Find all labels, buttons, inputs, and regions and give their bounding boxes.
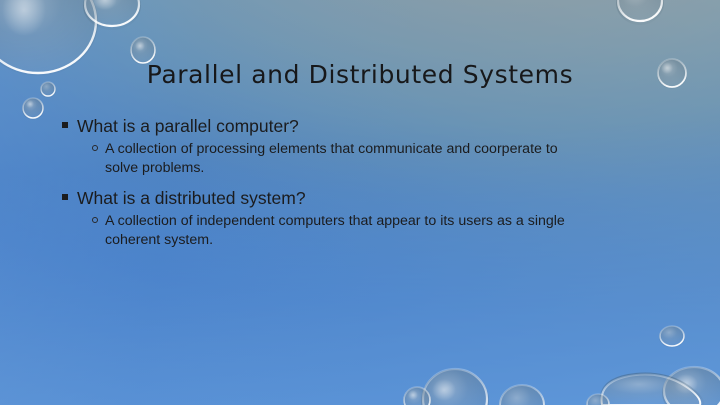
- bullet-level2-line1: A collection of independent computers th…: [105, 212, 660, 231]
- bullet-level2-item: A collection of processing elements that…: [60, 140, 660, 177]
- page-title: Parallel and Distributed Systems: [0, 60, 720, 89]
- circle-bullet-icon: [92, 217, 98, 223]
- bullet-level2-line1: A collection of processing elements that…: [105, 140, 660, 159]
- presentation-slide: Parallel and Distributed Systems What is…: [0, 0, 720, 405]
- square-bullet-icon: [62, 194, 68, 200]
- slide-body: What is a parallel computer? A collectio…: [60, 114, 660, 258]
- bullet-level1-item: What is a parallel computer?: [60, 114, 660, 138]
- bullet-level1-item: What is a distributed system?: [60, 186, 660, 210]
- bullet-level1-text: What is a distributed system?: [77, 188, 306, 208]
- square-bullet-icon: [62, 122, 68, 128]
- bullet-level2-line2: solve problems.: [105, 159, 660, 178]
- circle-bullet-icon: [92, 145, 98, 151]
- slide-content: Parallel and Distributed Systems What is…: [0, 0, 720, 405]
- bullet-level2-item: A collection of independent computers th…: [60, 212, 660, 249]
- bullet-level2-line2: coherent system.: [105, 231, 660, 250]
- bullet-level1-text: What is a parallel computer?: [77, 116, 299, 136]
